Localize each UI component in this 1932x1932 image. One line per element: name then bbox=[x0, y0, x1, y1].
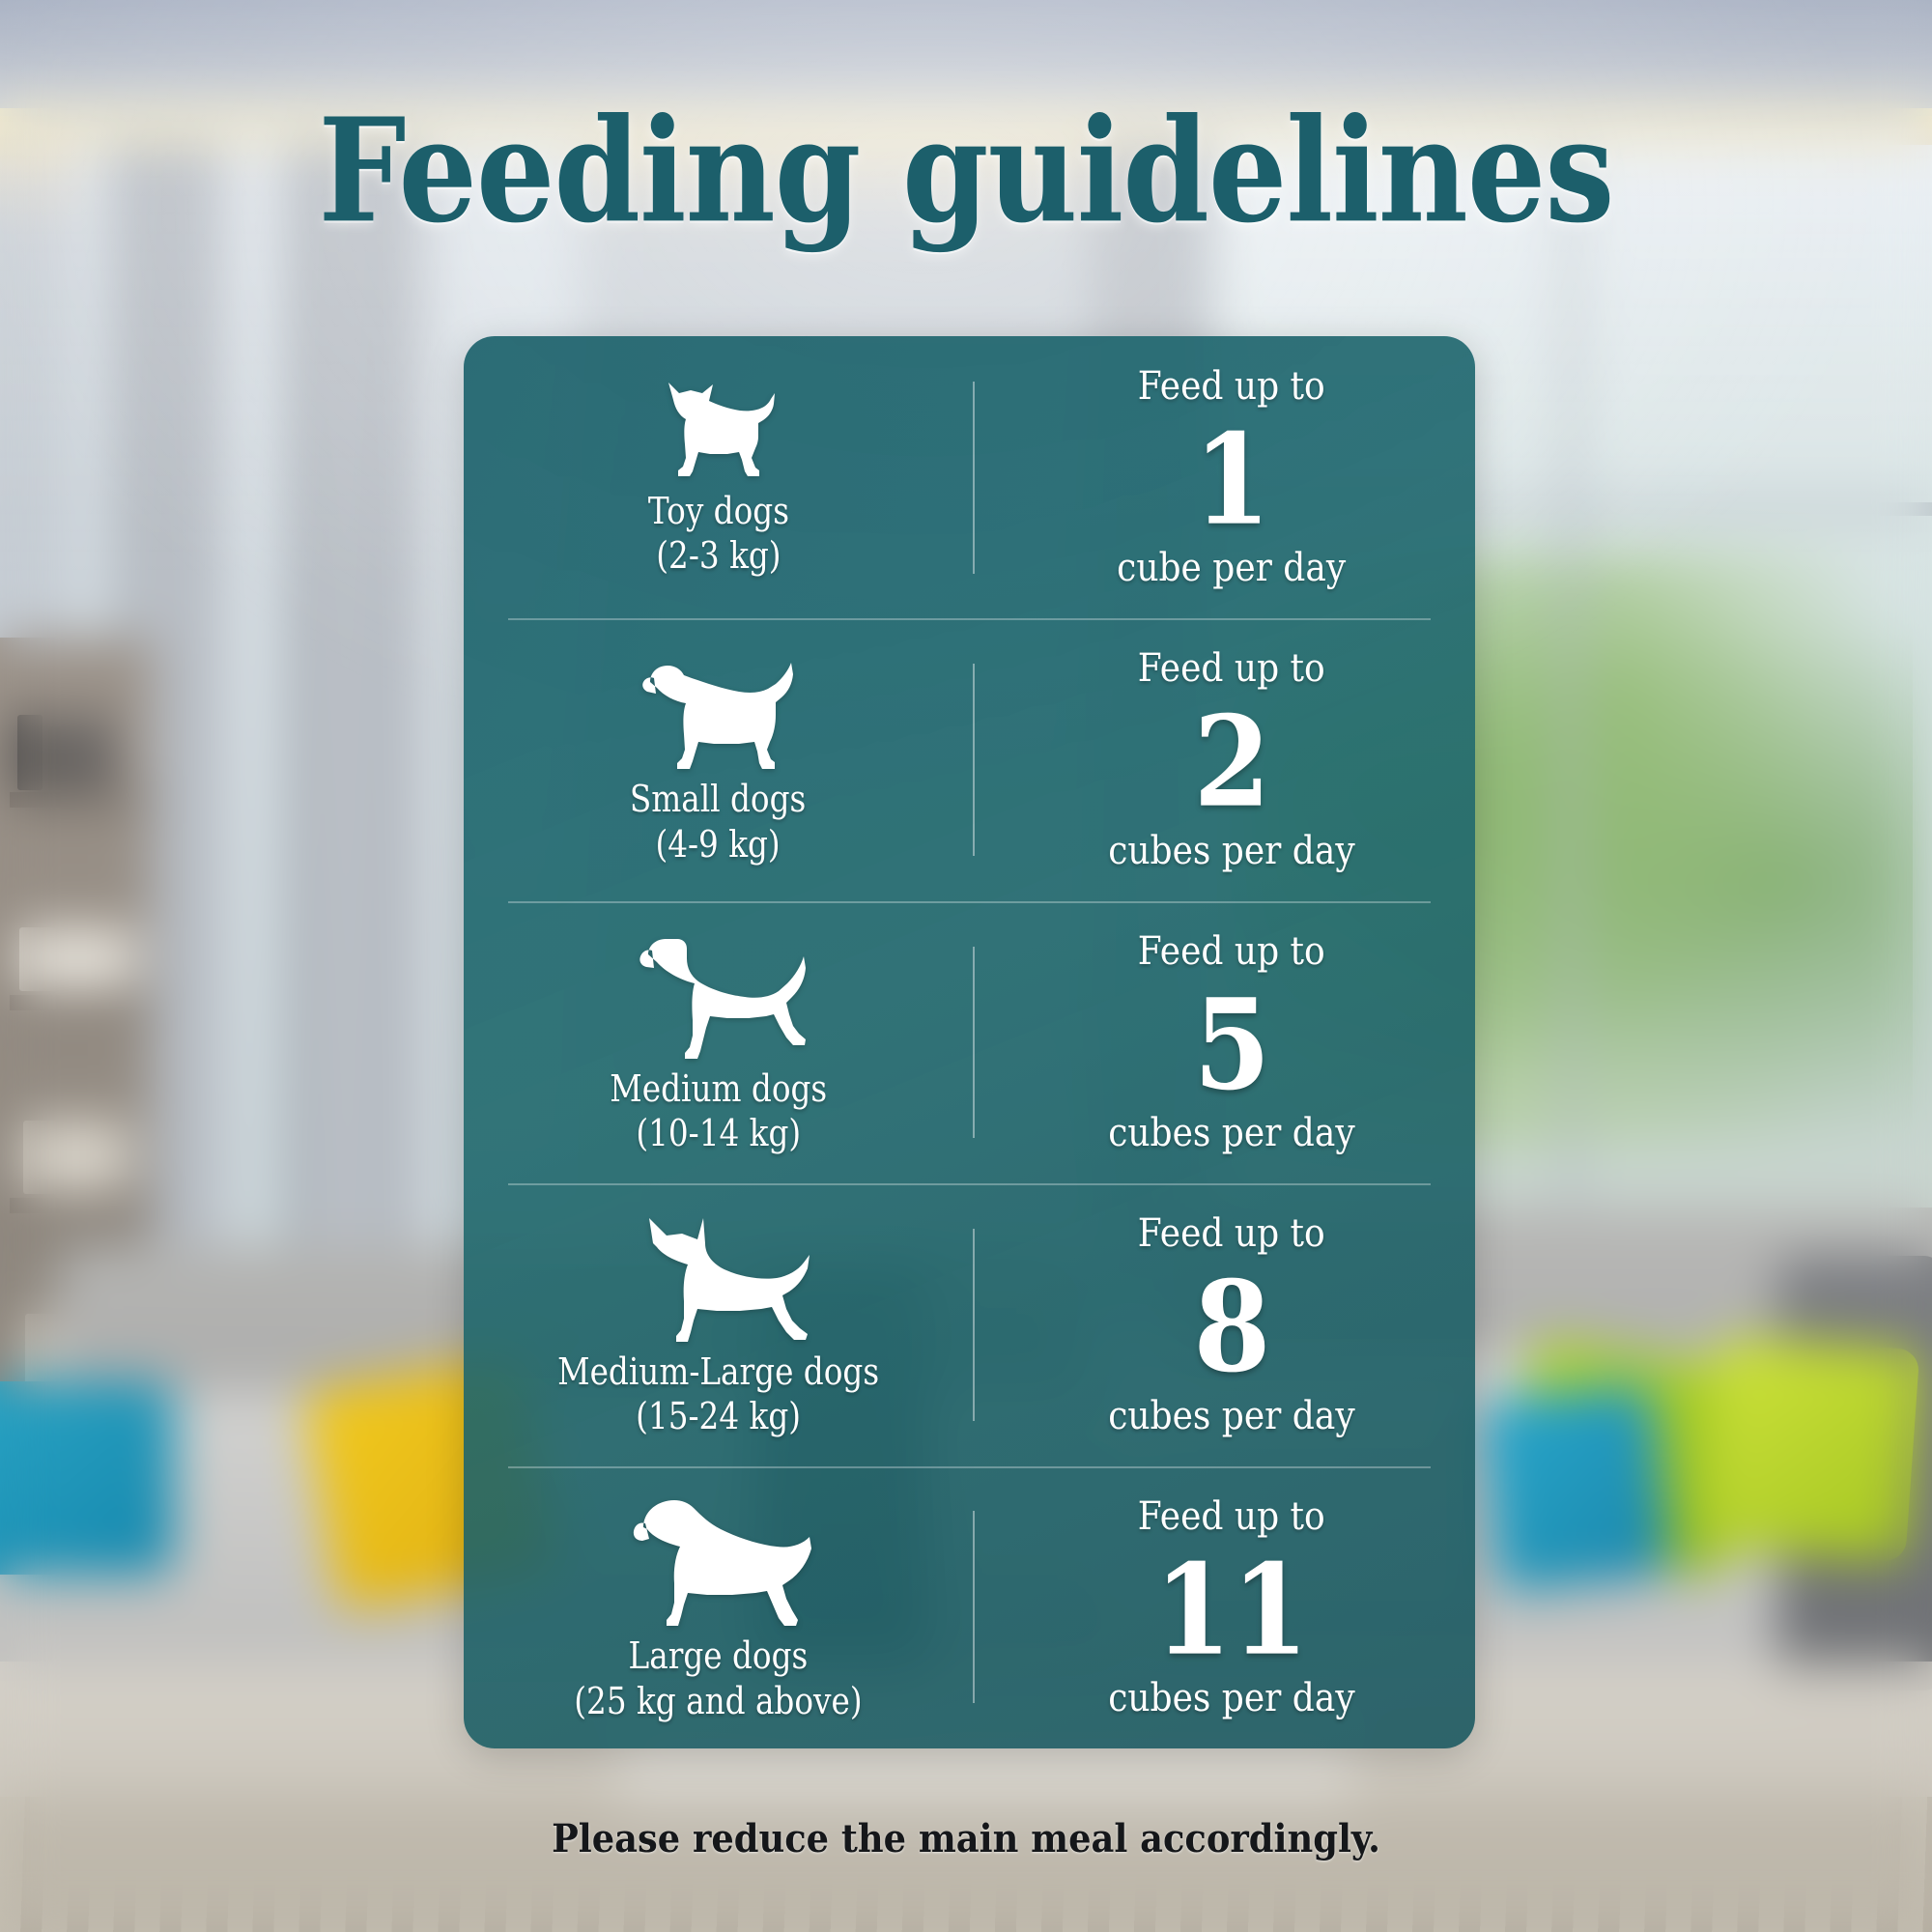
row-divider-vertical bbox=[973, 947, 975, 1139]
feed-amount-cell: Feed up to 11 cubes per day bbox=[973, 1466, 1475, 1748]
feed-amount-number: 1 bbox=[1193, 415, 1270, 543]
dog-size-cell: Toy dogs (2-3 kg) bbox=[464, 336, 973, 618]
table-row: Medium dogs (10-14 kg) Feed up to 5 cube… bbox=[464, 901, 1475, 1183]
footnote-text: Please reduce the main meal accordingly. bbox=[77, 1816, 1855, 1861]
dog-size-label: Small dogs (4-9 kg) bbox=[630, 777, 806, 867]
dog-size-cell: Medium-Large dogs (15-24 kg) bbox=[464, 1183, 973, 1465]
row-divider-vertical bbox=[973, 664, 975, 856]
dog-size-name: Toy dogs bbox=[647, 489, 788, 533]
setter-dog-icon bbox=[627, 933, 810, 1066]
dog-size-cell: Large dogs (25 kg and above) bbox=[464, 1466, 973, 1748]
feed-prefix-label: Feed up to bbox=[1138, 1214, 1325, 1253]
feed-amount-number: 2 bbox=[1193, 698, 1270, 826]
dog-weight-range: (10-14 kg) bbox=[610, 1111, 827, 1155]
table-row: Medium-Large dogs (15-24 kg) Feed up to … bbox=[464, 1183, 1475, 1465]
feed-prefix-label: Feed up to bbox=[1138, 1497, 1325, 1536]
dog-weight-range: (2-3 kg) bbox=[647, 533, 788, 578]
husky-dog-icon bbox=[624, 1214, 813, 1350]
feed-unit-label: cube per day bbox=[1117, 549, 1346, 587]
feed-unit-label: cubes per day bbox=[1108, 832, 1354, 870]
feed-amount-cell: Feed up to 1 cube per day bbox=[973, 336, 1475, 618]
dog-size-label: Medium-Large dogs (15-24 kg) bbox=[557, 1350, 879, 1439]
feed-prefix-label: Feed up to bbox=[1138, 649, 1325, 688]
dog-size-name: Medium dogs bbox=[610, 1066, 827, 1111]
feed-unit-label: cubes per day bbox=[1108, 1679, 1354, 1718]
feed-amount-number: 5 bbox=[1193, 980, 1270, 1108]
beagle-dog-icon bbox=[631, 657, 807, 777]
dog-size-label: Medium dogs (10-14 kg) bbox=[610, 1066, 827, 1156]
feed-prefix-label: Feed up to bbox=[1138, 932, 1325, 971]
feed-amount-cell: Feed up to 2 cubes per day bbox=[973, 618, 1475, 900]
dog-size-name: Medium-Large dogs bbox=[557, 1350, 879, 1394]
dog-weight-range: (4-9 kg) bbox=[630, 822, 806, 867]
feeding-table-panel: Toy dogs (2-3 kg) Feed up to 1 cube per … bbox=[464, 336, 1475, 1748]
feeding-table-rows: Toy dogs (2-3 kg) Feed up to 1 cube per … bbox=[464, 336, 1475, 1748]
row-divider-vertical bbox=[973, 1229, 975, 1421]
dog-weight-range: (25 kg and above) bbox=[574, 1679, 862, 1723]
row-divider-vertical bbox=[973, 382, 975, 574]
feeding-guidelines-graphic: Feeding guidelines Toy dogs (2-3 kg) Fee… bbox=[0, 0, 1932, 1932]
dog-size-name: Large dogs bbox=[574, 1634, 862, 1678]
feed-unit-label: cubes per day bbox=[1108, 1114, 1354, 1152]
dog-size-cell: Medium dogs (10-14 kg) bbox=[464, 901, 973, 1183]
feed-amount-number: 11 bbox=[1154, 1546, 1309, 1673]
feed-amount-cell: Feed up to 5 cubes per day bbox=[973, 901, 1475, 1183]
feed-amount-number: 8 bbox=[1193, 1263, 1270, 1390]
table-row: Toy dogs (2-3 kg) Feed up to 1 cube per … bbox=[464, 336, 1475, 618]
dog-size-name: Small dogs bbox=[630, 777, 806, 821]
dog-size-label: Toy dogs (2-3 kg) bbox=[647, 489, 788, 579]
page-title: Feeding guidelines bbox=[29, 100, 1903, 243]
mastiff-dog-icon bbox=[622, 1494, 815, 1634]
feed-unit-label: cubes per day bbox=[1108, 1397, 1354, 1435]
row-divider-vertical bbox=[973, 1511, 975, 1703]
table-row: Large dogs (25 kg and above) Feed up to … bbox=[464, 1466, 1475, 1748]
table-row: Small dogs (4-9 kg) Feed up to 2 cubes p… bbox=[464, 618, 1475, 900]
dog-weight-range: (15-24 kg) bbox=[557, 1394, 879, 1438]
dog-size-cell: Small dogs (4-9 kg) bbox=[464, 618, 973, 900]
dog-size-label: Large dogs (25 kg and above) bbox=[574, 1634, 862, 1723]
feed-prefix-label: Feed up to bbox=[1138, 367, 1325, 406]
feed-amount-cell: Feed up to 8 cubes per day bbox=[973, 1183, 1475, 1465]
chihuahua-dog-icon bbox=[642, 381, 795, 489]
